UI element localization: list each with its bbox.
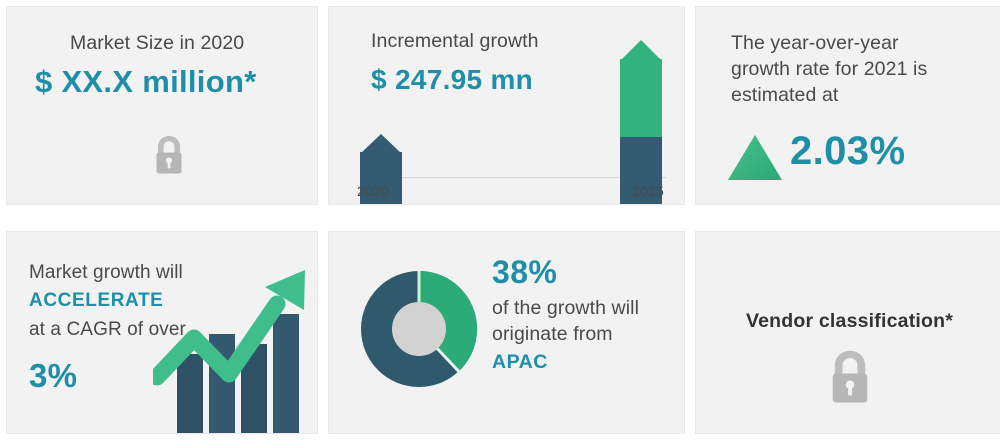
bar-2025: [620, 42, 662, 204]
yoy-line-3: estimated at: [731, 83, 838, 108]
apac-line-2: originate from: [492, 322, 613, 347]
cagr-value: 3%: [29, 357, 77, 395]
card-grid: Market Size in 2020 $ XX.X million* Incr…: [6, 6, 994, 434]
infographic-board: Market Size in 2020 $ XX.X million* Incr…: [0, 0, 1000, 441]
apac-share-percent: 38%: [492, 254, 557, 291]
card-apac-share: 38% of the growth will originate from AP…: [328, 231, 685, 434]
market-size-value: $ XX.X million*: [35, 64, 257, 100]
card-incremental-growth: Incremental growth $ 247.95 mn: [328, 6, 685, 205]
donut-chart-icon: [357, 267, 481, 396]
yoy-growth-value: 2.03%: [790, 129, 905, 174]
apac-line-1: of the growth will: [492, 296, 639, 321]
incremental-growth-bar-chart: 2020 2025: [349, 15, 674, 204]
card-vendor-classification: Vendor classification*: [695, 231, 1000, 434]
bar-tick-2025: 2025: [632, 183, 664, 199]
card-cagr: Market growth will ACCELERATE at a CAGR …: [6, 231, 318, 434]
growth-arrow-bars-icon: [153, 258, 313, 434]
bar-2020: [360, 42, 402, 204]
card-market-size: Market Size in 2020 $ XX.X million*: [6, 6, 318, 205]
vendor-classification-title: Vendor classification*: [696, 310, 1000, 333]
yoy-line-1: The year-over-year: [731, 31, 899, 56]
bar-tick-2020: 2020: [357, 183, 389, 199]
up-triangle-icon: [726, 133, 784, 188]
apac-region-label: APAC: [492, 350, 548, 375]
market-size-title: Market Size in 2020: [70, 31, 244, 56]
yoy-line-2: growth rate for 2021 is: [731, 57, 927, 82]
lock-icon: [826, 348, 874, 411]
card-yoy-growth: The year-over-year growth rate for 2021 …: [695, 6, 1000, 205]
lock-icon: [152, 134, 186, 181]
cagr-accelerate-label: ACCELERATE: [29, 288, 163, 313]
